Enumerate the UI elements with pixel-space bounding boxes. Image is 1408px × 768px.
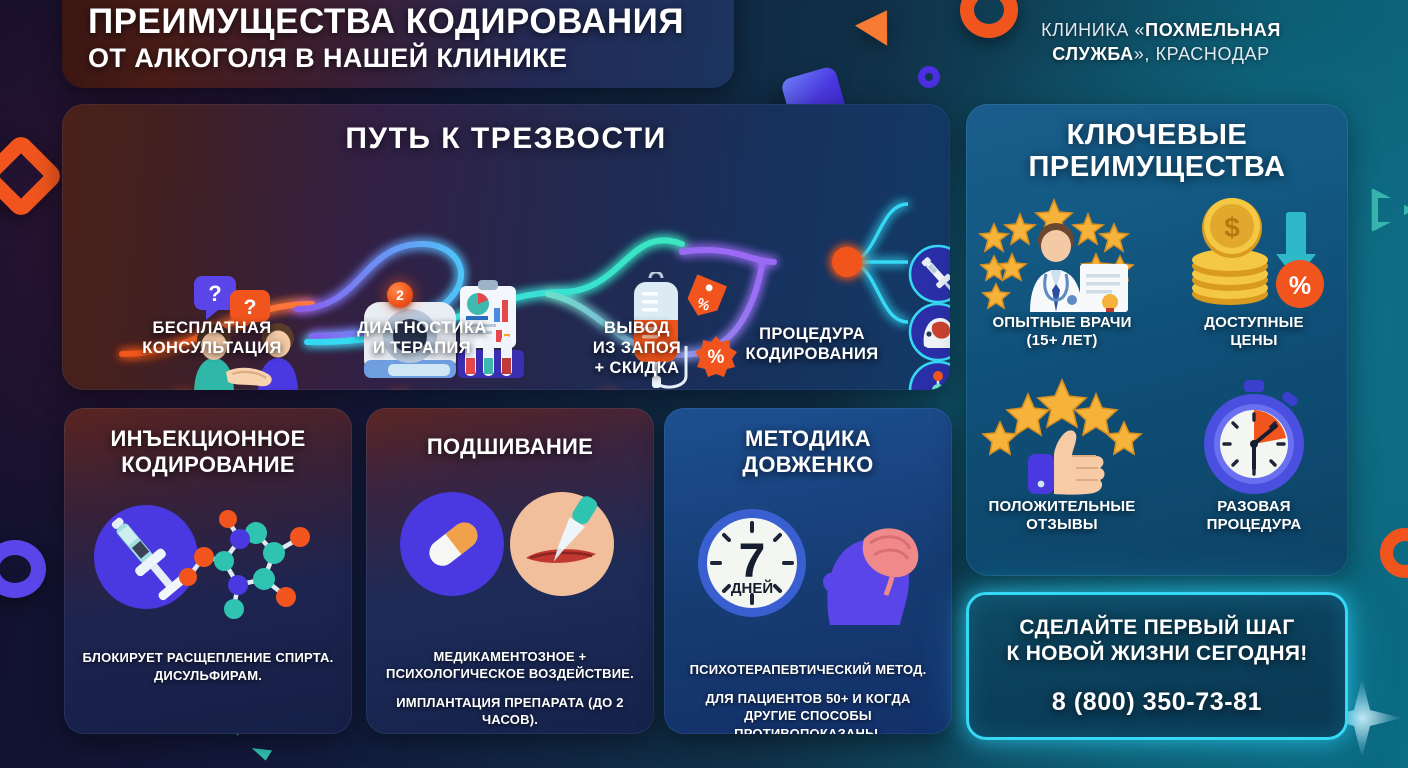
- benefits-title: КЛЮЧЕВЫЕ ПРЕИМУЩЕСТВА: [966, 120, 1348, 184]
- page-title-box: ПРЕИМУЩЕСТВА КОДИРОВАНИЯ ОТ АЛКОГОЛЯ В Н…: [62, 0, 734, 88]
- orange-diamond-ring: [0, 132, 65, 220]
- benefits-grid: ОПЫТНЫЕ ВРАЧИ (15+ ЛЕТ) $: [966, 194, 1348, 534]
- svg-text:$: $: [1224, 212, 1240, 243]
- page-title-line2: ОТ АЛКОГОЛЯ В НАШЕЙ КЛИНИКЕ: [88, 43, 708, 74]
- benefit-label: РАЗОВАЯ ПРОЦЕДУРА: [1164, 498, 1344, 534]
- method-desc-line: ИМПЛАНТАЦИЯ ПРЕПАРАТА (ДО 2 ЧАСОВ).: [380, 694, 640, 729]
- method-card-art: [78, 485, 338, 635]
- thumbs-up-stars-icon: [972, 378, 1152, 496]
- method-card-dovzhenko: МЕТОДИКА ДОВЖЕНКО 7 ДНЕЙ ПСИХОТЕРАПЕВТИЧ…: [664, 408, 952, 734]
- coins-discount-arrow-icon: $ %: [1164, 194, 1344, 312]
- cta-phone-number[interactable]: 8 (800) 350-73-81: [1052, 688, 1262, 717]
- key-benefits-panel: КЛЮЧЕВЫЕ ПРЕИМУЩЕСТВА: [966, 104, 1348, 576]
- stopwatch-icon: [1164, 378, 1344, 496]
- method-card-art: [380, 476, 640, 626]
- method-card-title: МЕТОДИКА ДОВЖЕНКО: [678, 426, 938, 477]
- benefits-title-line2: ПРЕИМУЩЕСТВА: [1028, 151, 1285, 183]
- benefit-label: ПОЛОЖИТЕЛЬНЫЕ ОТЗЫВЫ: [972, 498, 1152, 534]
- benefit-item-doctors: ОПЫТНЫЕ ВРАЧИ (15+ ЛЕТ): [966, 194, 1158, 350]
- clinic-prefix: КЛИНИКА «: [1041, 20, 1145, 40]
- cta-line1: СДЕЛАЙТЕ ПЕРВЫЙ ШАГ: [1019, 616, 1294, 639]
- cta-headline: СДЕЛАЙТЕ ПЕРВЫЙ ШАГ К НОВОЙ ЖИЗНИ СЕГОДН…: [1006, 615, 1307, 665]
- method-card-desc: МЕДИКАМЕНТОЗНОЕ + ПСИХОЛОГИЧЕСКОЕ ВОЗДЕЙ…: [380, 648, 640, 729]
- cta-line2: К НОВОЙ ЖИЗНИ СЕГОДНЯ!: [1006, 642, 1307, 665]
- benefits-title-line1: КЛЮЧЕВЫЕ: [1067, 119, 1248, 151]
- doctor-stars-certificate-icon: [972, 194, 1152, 312]
- orange-ring-right: [1380, 528, 1408, 578]
- benefit-item-single-procedure: РАЗОВАЯ ПРОЦЕДУРА: [1158, 378, 1348, 534]
- method-card-injection: ИНЪЕКЦИОННОЕ КОДИРОВАНИЕ: [64, 408, 352, 734]
- clock-unit: ДНЕЙ: [731, 579, 773, 597]
- method-desc-line: МЕДИКАМЕНТОЗНОЕ + ПСИХОЛОГИЧЕСКОЕ ВОЗДЕЙ…: [380, 648, 640, 683]
- method-desc-line: ПСИХОТЕРАПЕВТИЧЕСКИЙ МЕТОД.: [678, 661, 938, 679]
- step-badge-2-top: 2: [387, 282, 413, 308]
- method-card-desc: ПСИХОТЕРАПЕВТИЧЕСКИЙ МЕТОД. ДЛЯ ПАЦИЕНТО…: [678, 661, 938, 734]
- journey-step-label-1: БЕСПЛАТНАЯ КОНСУЛЬТАЦИЯ: [102, 318, 322, 358]
- clinic-suffix: », КРАСНОДАР: [1134, 44, 1270, 64]
- method-desc-line: ДЛЯ ПАЦИЕНТОВ 50+ И КОГДА ДРУГИЕ СПОСОБЫ…: [678, 690, 938, 734]
- method-card-implant: ПОДШИВАНИЕ МЕДИКАМЕНТОЗНОЕ + ПСИХОЛОГИЧЕ…: [366, 408, 654, 734]
- benefit-label: ДОСТУПНЫЕ ЦЕНЫ: [1164, 314, 1344, 350]
- page-title-line1: ПРЕИМУЩЕСТВА КОДИРОВАНИЯ: [88, 4, 708, 41]
- method-card-title: ПОДШИВАНИЕ: [380, 434, 640, 460]
- benefit-label: ОПЫТНЫЕ ВРАЧИ (15+ ЛЕТ): [972, 314, 1152, 350]
- purple-torus: [0, 540, 46, 598]
- method-desc-line: БЛОКИРУЕТ РАСЩЕПЛЕНИЕ СПИРТА. ДИСУЛЬФИРА…: [78, 649, 338, 684]
- method-card-art: 7 ДНЕЙ: [678, 493, 938, 643]
- journey-step-label-4: ПРОЦЕДУРА КОДИРОВАНИЯ: [717, 324, 907, 364]
- cta-panel[interactable]: СДЕЛАЙТЕ ПЕРВЫЙ ШАГ К НОВОЙ ЖИЗНИ СЕГОДН…: [966, 592, 1348, 740]
- journey-panel: ПУТЬ К ТРЕЗВОСТИ: [62, 104, 950, 390]
- benefit-item-reviews: ПОЛОЖИТЕЛЬНЫЕ ОТЗЫВЫ: [966, 378, 1158, 534]
- purple-small-ring: [918, 66, 940, 88]
- svg-text:%: %: [1289, 272, 1311, 300]
- benefit-item-prices: $ % ДОСТУПНЫЕ ЦЕНЫ: [1158, 194, 1348, 350]
- method-card-desc: БЛОКИРУЕТ РАСЩЕПЛЕНИЕ СПИРТА. ДИСУЛЬФИРА…: [78, 649, 338, 684]
- journey-step-label-3: ВЫВОД ИЗ ЗАПОЯ + СКИДКА: [557, 318, 717, 378]
- method-card-title: ИНЪЕКЦИОННОЕ КОДИРОВАНИЕ: [78, 426, 338, 477]
- clinic-name: КЛИНИКА «ПОХМЕЛЬНАЯ СЛУЖБА», КРАСНОДАР: [996, 18, 1326, 67]
- journey-step-label-2: ДИАГНОСТИКА И ТЕРАПИЯ: [317, 318, 527, 358]
- teal-triangle-outline-right: [1368, 188, 1408, 232]
- orange-triangle: [855, 0, 903, 46]
